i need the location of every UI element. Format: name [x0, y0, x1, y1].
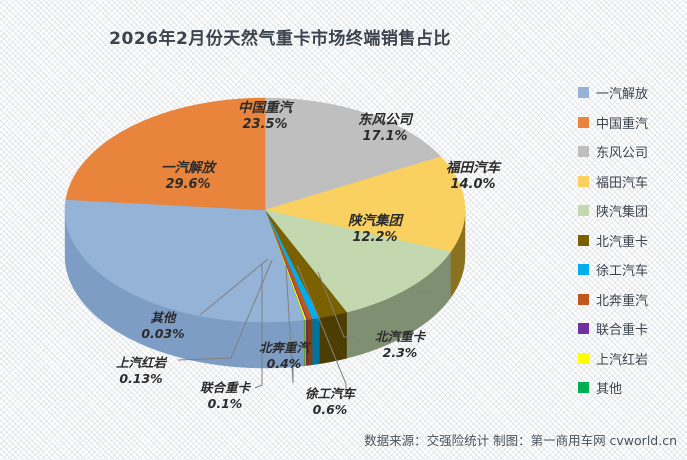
- legend-item[interactable]: 联合重卡: [578, 314, 686, 344]
- legend: 一汽解放中国重汽东风公司福田汽车陕汽集团北汽重卡徐工汽车北奔重汽联合重卡上汽红岩…: [578, 78, 686, 403]
- chart-page: 2026年2月份天然气重卡市场终端销售占比 一汽解放 29.6% 中国重汽 23…: [0, 0, 687, 460]
- pie-chart-svg: [0, 50, 565, 420]
- legend-item-label: 中国重汽: [596, 113, 648, 132]
- legend-color-swatch: [578, 117, 589, 128]
- legend-item[interactable]: 上汽红岩: [578, 344, 686, 374]
- legend-item-label: 上汽红岩: [596, 349, 648, 368]
- legend-color-swatch: [578, 294, 589, 305]
- legend-item[interactable]: 中国重汽: [578, 108, 686, 138]
- legend-color-swatch: [578, 323, 589, 334]
- legend-color-swatch: [578, 146, 589, 157]
- pie-slice-top[interactable]: [66, 98, 265, 210]
- legend-color-swatch: [578, 382, 589, 393]
- pie-plot-area: [0, 50, 565, 420]
- legend-color-swatch: [578, 205, 589, 216]
- legend-item[interactable]: 北奔重汽: [578, 285, 686, 315]
- legend-item[interactable]: 徐工汽车: [578, 255, 686, 285]
- legend-item-label: 东风公司: [596, 142, 648, 161]
- legend-item[interactable]: 北汽重卡: [578, 226, 686, 256]
- legend-color-swatch: [578, 235, 589, 246]
- legend-color-swatch: [578, 353, 589, 364]
- legend-color-swatch: [578, 176, 589, 187]
- legend-item-label: 陕汽集团: [596, 201, 648, 220]
- legend-item[interactable]: 陕汽集团: [578, 196, 686, 226]
- legend-item-label: 北汽重卡: [596, 231, 648, 250]
- legend-item[interactable]: 一汽解放: [578, 78, 686, 108]
- pie-slice-tops: [65, 98, 465, 322]
- legend-item[interactable]: 东风公司: [578, 137, 686, 167]
- legend-item-label: 徐工汽车: [596, 260, 648, 279]
- legend-item-label: 福田汽车: [596, 172, 648, 191]
- legend-color-swatch: [578, 264, 589, 275]
- legend-item-label: 其他: [596, 378, 622, 397]
- legend-color-swatch: [578, 87, 589, 98]
- legend-item-label: 联合重卡: [596, 319, 648, 338]
- page-title: 2026年2月份天然气重卡市场终端销售占比: [0, 24, 560, 49]
- legend-item-label: 一汽解放: [596, 83, 648, 102]
- source-footer: 数据来源：交强险统计 制图：第一商用车网 cvworld.cn: [364, 430, 677, 449]
- legend-item-label: 北奔重汽: [596, 290, 648, 309]
- legend-item[interactable]: 福田汽车: [578, 167, 686, 197]
- legend-item[interactable]: 其他: [578, 373, 686, 403]
